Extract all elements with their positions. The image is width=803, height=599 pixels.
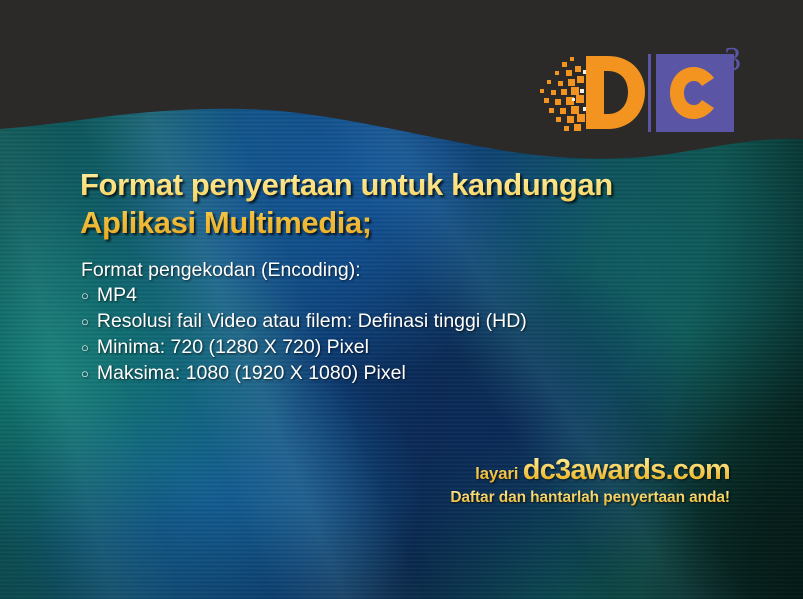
list-item: ○ Resolusi fail Video atau filem: Defina… xyxy=(81,309,701,335)
dc3-logo: 3 xyxy=(528,40,743,140)
list-item: ○ Maksima: 1080 (1920 X 1080) Pixel xyxy=(81,361,701,387)
website-url[interactable]: dc3awards.com xyxy=(523,454,730,486)
logo-superscript-3: 3 xyxy=(724,41,741,78)
bullet-circle-icon: ○ xyxy=(81,361,89,386)
list-item: ○ MP4 xyxy=(81,283,701,309)
bullet-circle-icon: ○ xyxy=(81,309,89,334)
website-line: layari dc3awards.com xyxy=(450,454,730,487)
list-item-label: Minima: 720 (1280 X 720) Pixel xyxy=(97,335,369,360)
encoding-bullet-list: ○ MP4 ○ Resolusi fail Video atau filem: … xyxy=(81,283,701,387)
page-title: Format penyertaan untuk kandungan Aplika… xyxy=(80,166,680,243)
logo-purple-square xyxy=(656,54,734,132)
list-item-label: Maksima: 1080 (1920 X 1080) Pixel xyxy=(97,361,406,386)
title-line-2: Aplikasi Multimedia; xyxy=(80,204,680,242)
list-item-label: Resolusi fail Video atau filem: Definasi… xyxy=(97,309,527,334)
footer-tagline: Daftar dan hantarlah penyertaan anda! xyxy=(450,489,730,507)
slide-canvas: 3 Format penyertaan untuk kandungan Apli… xyxy=(0,0,803,599)
bullet-circle-icon: ○ xyxy=(81,283,89,308)
pixel-dissolve-icon xyxy=(540,57,585,131)
logo-letter-d xyxy=(586,56,645,129)
footer-cta: layari dc3awards.com Daftar dan hantarla… xyxy=(450,454,730,507)
list-item-label: MP4 xyxy=(97,283,137,308)
list-item: ○ Minima: 720 (1280 X 720) Pixel xyxy=(81,335,701,361)
content-block: Format pengekodan (Encoding): ○ MP4 ○ Re… xyxy=(81,258,701,387)
logo-divider xyxy=(648,54,651,132)
website-prefix: layari xyxy=(475,464,518,483)
title-line-1: Format penyertaan untuk kandungan xyxy=(80,166,680,204)
content-lead-text: Format pengekodan (Encoding): xyxy=(81,258,701,283)
bullet-circle-icon: ○ xyxy=(81,335,89,360)
